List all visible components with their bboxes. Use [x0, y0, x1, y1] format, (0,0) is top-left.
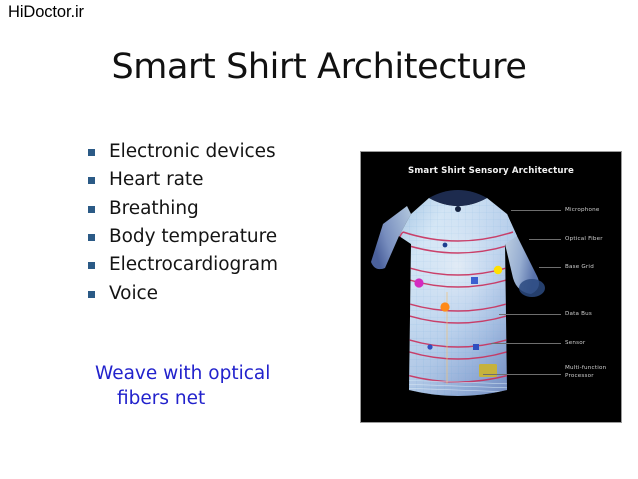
bullet-list: Electronic devices Heart rate Breathing … — [88, 141, 350, 311]
list-item: Breathing — [88, 198, 350, 220]
leader-line-processor — [483, 374, 561, 375]
list-item-label: Electronic devices — [109, 141, 276, 163]
highlighted-note-line-2: fibers net — [95, 387, 310, 412]
list-item-label: Heart rate — [109, 169, 203, 191]
annotation-base-grid: Base Grid — [565, 263, 594, 271]
list-item-label: Breathing — [109, 198, 199, 220]
list-item: Electrocardiogram — [88, 254, 350, 276]
leader-line-sensor — [491, 343, 561, 344]
sensor-dot-orange — [440, 302, 449, 311]
highlighted-note-line-1: Weave with optical — [95, 363, 270, 384]
sensor-dot-tiny — [443, 243, 448, 248]
sensor-dot-yellow — [494, 266, 502, 274]
sensor-dot-blue — [471, 277, 478, 284]
square-bullet-icon — [88, 206, 95, 213]
leader-line-optical-fiber — [529, 239, 561, 240]
leader-line-microphone — [511, 210, 561, 211]
list-item: Voice — [88, 283, 350, 305]
list-item-label: Body temperature — [109, 226, 277, 248]
annotation-data-bus: Data Bus — [565, 310, 592, 318]
square-bullet-icon — [88, 234, 95, 241]
site-watermark: HiDoctor.ir — [8, 3, 84, 22]
leader-line-base-grid — [539, 267, 561, 268]
list-item-label: Electrocardiogram — [109, 254, 278, 276]
leader-line-data-bus — [499, 314, 561, 315]
processor-module — [479, 364, 497, 377]
square-bullet-icon — [88, 262, 95, 269]
square-bullet-icon — [88, 149, 95, 156]
page-title: Smart Shirt Architecture — [0, 47, 638, 87]
annotation-microphone: Microphone — [565, 206, 600, 214]
square-bullet-icon — [88, 177, 95, 184]
list-item-label: Voice — [109, 283, 158, 305]
square-bullet-icon — [88, 291, 95, 298]
list-item: Electronic devices — [88, 141, 350, 163]
figure-smart-shirt-diagram: Smart Shirt Sensory Architecture — [360, 151, 622, 423]
figure-caption: Smart Shirt Sensory Architecture — [361, 166, 621, 176]
sensor-dot-blue-2 — [473, 344, 479, 350]
highlighted-note: Weave with optical fibers net — [95, 362, 310, 412]
list-item: Body temperature — [88, 226, 350, 248]
sensor-dot-small — [427, 344, 432, 349]
list-item: Heart rate — [88, 169, 350, 191]
annotation-sensor: Sensor — [565, 339, 585, 347]
sensor-dot-magenta — [414, 278, 423, 287]
annotation-optical-fiber: Optical Fiber — [565, 235, 603, 243]
annotation-processor: Processor — [565, 372, 594, 380]
shirt-illustration — [367, 184, 549, 420]
